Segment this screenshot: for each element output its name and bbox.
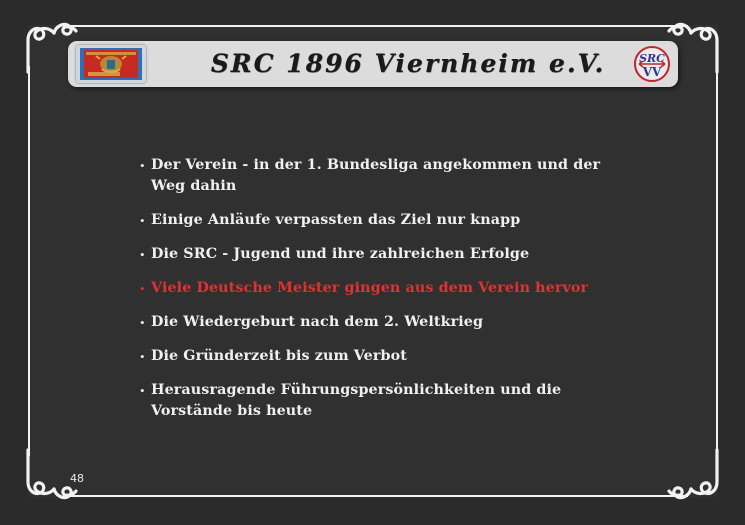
page-title: SRC 1896 Viernheim e.V.: [158, 41, 658, 87]
bullet-point-icon: •: [140, 155, 151, 176]
club-banner-flag-icon: [76, 45, 146, 83]
list-item-label: Einige Anläufe verpassten das Ziel nur k…: [151, 210, 620, 231]
list-item: • Die SRC - Jugend und ihre zahlreichen …: [140, 244, 620, 265]
list-item-label: Herausragende Führungspersönlichkeiten u…: [151, 380, 620, 422]
list-item: • Einige Anläufe verpassten das Ziel nur…: [140, 210, 620, 231]
bullet-point-icon: •: [140, 346, 151, 367]
list-item: • Der Verein - in der 1. Bundesliga ange…: [140, 155, 620, 197]
bullet-point-icon: •: [140, 278, 151, 299]
svg-text:SRC: SRC: [639, 52, 665, 65]
frame-line-right: [716, 66, 718, 456]
frame-line-bottom: [66, 495, 688, 497]
frame-line-top: [66, 25, 688, 27]
bullet-point-icon: •: [140, 244, 151, 265]
list-item-label: Die Wiedergeburt nach dem 2. Weltkrieg: [151, 312, 620, 333]
slide-header-bar: SRC 1896 Viernheim e.V. SRC VV: [68, 41, 678, 87]
bullet-point-icon: •: [140, 312, 151, 333]
list-item: • Die Gründerzeit bis zum Verbot: [140, 346, 620, 367]
list-item-label: Viele Deutsche Meister gingen aus dem Ve…: [151, 278, 620, 299]
list-item-label: Der Verein - in der 1. Bundesliga angeko…: [151, 155, 620, 197]
list-item: • Herausragende Führungspersönlichkeiten…: [140, 380, 620, 422]
bullet-point-icon: •: [140, 210, 151, 231]
frame-line-left: [28, 66, 30, 456]
svg-text:VV: VV: [642, 65, 662, 79]
list-item: • Die Wiedergeburt nach dem 2. Weltkrieg: [140, 312, 620, 333]
list-item-label: Die Gründerzeit bis zum Verbot: [151, 346, 620, 367]
src-club-logo-icon: SRC VV: [632, 44, 672, 84]
list-item-label: Die SRC - Jugend und ihre zahlreichen Er…: [151, 244, 620, 265]
list-item-highlighted: • Viele Deutsche Meister gingen aus dem …: [140, 278, 620, 299]
page-number: 48: [70, 472, 84, 485]
bullet-list: • Der Verein - in der 1. Bundesliga ange…: [140, 155, 620, 435]
presentation-slide: SRC 1896 Viernheim e.V. SRC VV • Der Ver…: [0, 0, 745, 525]
bullet-point-icon: •: [140, 380, 151, 401]
